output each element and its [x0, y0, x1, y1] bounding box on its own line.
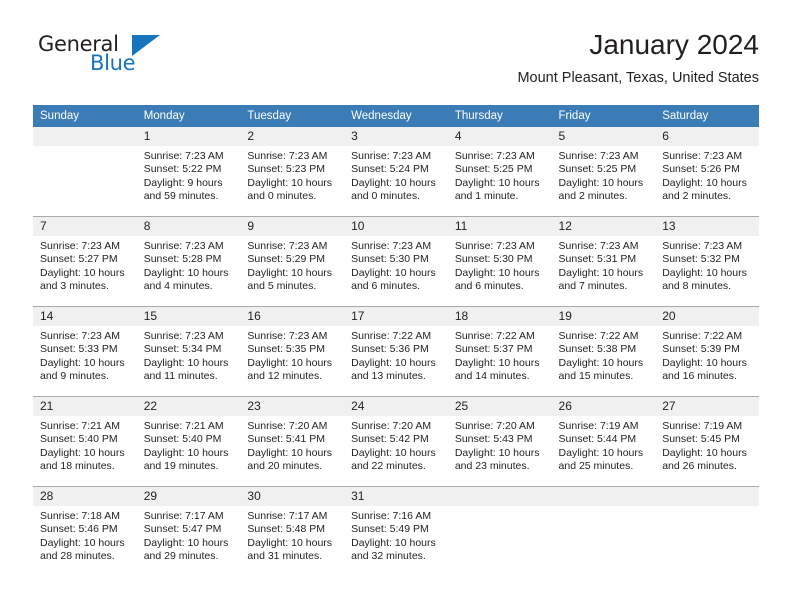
sunset-text: Sunset: 5:32 PM [662, 253, 753, 266]
sunrise-text: Sunrise: 7:23 AM [559, 240, 650, 253]
day-number: 5 [552, 127, 656, 146]
weekday-header-friday: Friday [552, 105, 656, 127]
daylight-text: and 8 minutes. [662, 280, 753, 293]
day-details: Sunrise: 7:23 AMSunset: 5:33 PMDaylight:… [33, 326, 137, 384]
sunrise-text: Sunrise: 7:22 AM [455, 330, 546, 343]
day-details: Sunrise: 7:23 AMSunset: 5:30 PMDaylight:… [344, 236, 448, 294]
calendar-day-cell[interactable]: 30Sunrise: 7:17 AMSunset: 5:48 PMDayligh… [240, 487, 344, 577]
day-details: Sunrise: 7:23 AMSunset: 5:26 PMDaylight:… [655, 146, 759, 204]
day-number: 1 [137, 127, 241, 146]
calendar-day-cell[interactable]: 1Sunrise: 7:23 AMSunset: 5:22 PMDaylight… [137, 127, 241, 217]
day-details: Sunrise: 7:22 AMSunset: 5:37 PMDaylight:… [448, 326, 552, 384]
calendar-week-row: 14Sunrise: 7:23 AMSunset: 5:33 PMDayligh… [33, 307, 759, 397]
daylight-text: and 20 minutes. [247, 460, 338, 473]
day-details: Sunrise: 7:19 AMSunset: 5:44 PMDaylight:… [552, 416, 656, 474]
daylight-text: Daylight: 10 hours [247, 447, 338, 460]
daylight-text: and 0 minutes. [247, 190, 338, 203]
sunrise-text: Sunrise: 7:23 AM [40, 330, 131, 343]
daylight-text: and 29 minutes. [144, 550, 235, 563]
daylight-text: Daylight: 10 hours [559, 267, 650, 280]
day-cell-inner: 30Sunrise: 7:17 AMSunset: 5:48 PMDayligh… [240, 487, 344, 576]
day-number: 17 [344, 307, 448, 326]
day-cell-inner: 2Sunrise: 7:23 AMSunset: 5:23 PMDaylight… [240, 127, 344, 216]
day-cell-inner: 17Sunrise: 7:22 AMSunset: 5:36 PMDayligh… [344, 307, 448, 396]
sunset-text: Sunset: 5:38 PM [559, 343, 650, 356]
daylight-text: Daylight: 10 hours [455, 447, 546, 460]
sunrise-text: Sunrise: 7:19 AM [662, 420, 753, 433]
daylight-text: Daylight: 10 hours [351, 447, 442, 460]
daylight-text: Daylight: 10 hours [144, 537, 235, 550]
sunrise-text: Sunrise: 7:22 AM [662, 330, 753, 343]
daylight-text: and 5 minutes. [247, 280, 338, 293]
calendar-header-row: Sunday Monday Tuesday Wednesday Thursday… [33, 105, 759, 127]
daylight-text: Daylight: 10 hours [40, 267, 131, 280]
daylight-text: Daylight: 10 hours [40, 447, 131, 460]
daylight-text: Daylight: 10 hours [662, 447, 753, 460]
day-cell-inner: 29Sunrise: 7:17 AMSunset: 5:47 PMDayligh… [137, 487, 241, 576]
daylight-text: and 25 minutes. [559, 460, 650, 473]
day-cell-inner: 26Sunrise: 7:19 AMSunset: 5:44 PMDayligh… [552, 397, 656, 486]
general-blue-logo: General Blue [33, 32, 233, 84]
sunset-text: Sunset: 5:30 PM [351, 253, 442, 266]
calendar-day-cell[interactable]: 14Sunrise: 7:23 AMSunset: 5:33 PMDayligh… [33, 307, 137, 397]
sunrise-text: Sunrise: 7:23 AM [144, 330, 235, 343]
sunrise-text: Sunrise: 7:23 AM [351, 240, 442, 253]
day-number: 15 [137, 307, 241, 326]
sunrise-text: Sunrise: 7:23 AM [351, 150, 442, 163]
daylight-text: Daylight: 10 hours [351, 177, 442, 190]
daylight-text: and 2 minutes. [662, 190, 753, 203]
day-number: 2 [240, 127, 344, 146]
calendar-day-cell[interactable]: 17Sunrise: 7:22 AMSunset: 5:36 PMDayligh… [344, 307, 448, 397]
sunrise-text: Sunrise: 7:23 AM [662, 240, 753, 253]
calendar-day-cell[interactable]: 20Sunrise: 7:22 AMSunset: 5:39 PMDayligh… [655, 307, 759, 397]
title-block: January 2024 Mount Pleasant, Texas, Unit… [517, 28, 759, 88]
day-cell-inner: 7Sunrise: 7:23 AMSunset: 5:27 PMDaylight… [33, 217, 137, 306]
calendar-day-cell[interactable]: 19Sunrise: 7:22 AMSunset: 5:38 PMDayligh… [552, 307, 656, 397]
calendar-day-cell[interactable]: 13Sunrise: 7:23 AMSunset: 5:32 PMDayligh… [655, 217, 759, 307]
day-cell-inner [448, 487, 552, 576]
sunset-text: Sunset: 5:42 PM [351, 433, 442, 446]
calendar-empty-cell [33, 127, 137, 217]
calendar-week-row: 28Sunrise: 7:18 AMSunset: 5:46 PMDayligh… [33, 487, 759, 577]
sunset-text: Sunset: 5:33 PM [40, 343, 131, 356]
daylight-text: Daylight: 10 hours [455, 177, 546, 190]
daylight-text: and 4 minutes. [144, 280, 235, 293]
daylight-text: Daylight: 10 hours [662, 357, 753, 370]
day-number: 20 [655, 307, 759, 326]
daylight-text: and 16 minutes. [662, 370, 753, 383]
calendar-day-cell[interactable]: 16Sunrise: 7:23 AMSunset: 5:35 PMDayligh… [240, 307, 344, 397]
sunrise-text: Sunrise: 7:17 AM [247, 510, 338, 523]
day-number: 12 [552, 217, 656, 236]
daylight-text: and 18 minutes. [40, 460, 131, 473]
calendar-day-cell[interactable]: 8Sunrise: 7:23 AMSunset: 5:28 PMDaylight… [137, 217, 241, 307]
day-number: 29 [137, 487, 241, 506]
logo-word-blue: Blue [90, 51, 135, 75]
day-cell-inner: 18Sunrise: 7:22 AMSunset: 5:37 PMDayligh… [448, 307, 552, 396]
day-cell-inner: 31Sunrise: 7:16 AMSunset: 5:49 PMDayligh… [344, 487, 448, 576]
day-details: Sunrise: 7:21 AMSunset: 5:40 PMDaylight:… [33, 416, 137, 474]
day-number: 31 [344, 487, 448, 506]
daylight-text: Daylight: 10 hours [247, 267, 338, 280]
day-number: 11 [448, 217, 552, 236]
daylight-text: Daylight: 10 hours [351, 537, 442, 550]
sunrise-text: Sunrise: 7:23 AM [247, 240, 338, 253]
day-number: 6 [655, 127, 759, 146]
day-cell-inner: 20Sunrise: 7:22 AMSunset: 5:39 PMDayligh… [655, 307, 759, 396]
day-number: 13 [655, 217, 759, 236]
sunset-text: Sunset: 5:45 PM [662, 433, 753, 446]
day-details: Sunrise: 7:21 AMSunset: 5:40 PMDaylight:… [137, 416, 241, 474]
sunset-text: Sunset: 5:37 PM [455, 343, 546, 356]
day-cell-inner [552, 487, 656, 576]
daylight-text: and 19 minutes. [144, 460, 235, 473]
sunset-text: Sunset: 5:35 PM [247, 343, 338, 356]
calendar-empty-cell [448, 487, 552, 577]
daylight-text: and 2 minutes. [559, 190, 650, 203]
sunrise-text: Sunrise: 7:22 AM [351, 330, 442, 343]
day-cell-inner: 23Sunrise: 7:20 AMSunset: 5:41 PMDayligh… [240, 397, 344, 486]
day-details: Sunrise: 7:22 AMSunset: 5:38 PMDaylight:… [552, 326, 656, 384]
daylight-text: and 13 minutes. [351, 370, 442, 383]
day-details: Sunrise: 7:23 AMSunset: 5:25 PMDaylight:… [552, 146, 656, 204]
day-number: 16 [240, 307, 344, 326]
daylight-text: and 6 minutes. [351, 280, 442, 293]
day-details: Sunrise: 7:23 AMSunset: 5:29 PMDaylight:… [240, 236, 344, 294]
day-cell-inner: 6Sunrise: 7:23 AMSunset: 5:26 PMDaylight… [655, 127, 759, 216]
daylight-text: Daylight: 9 hours [144, 177, 235, 190]
daylight-text: and 6 minutes. [455, 280, 546, 293]
daylight-text: Daylight: 10 hours [144, 447, 235, 460]
sunset-text: Sunset: 5:34 PM [144, 343, 235, 356]
daylight-text: Daylight: 10 hours [144, 357, 235, 370]
weekday-header-thursday: Thursday [448, 105, 552, 127]
logo-triangle-icon [132, 35, 160, 56]
day-details: Sunrise: 7:17 AMSunset: 5:48 PMDaylight:… [240, 506, 344, 564]
calendar-table: Sunday Monday Tuesday Wednesday Thursday… [33, 105, 759, 576]
day-details: Sunrise: 7:23 AMSunset: 5:25 PMDaylight:… [448, 146, 552, 204]
calendar-day-cell[interactable]: 21Sunrise: 7:21 AMSunset: 5:40 PMDayligh… [33, 397, 137, 487]
calendar-day-cell[interactable]: 27Sunrise: 7:19 AMSunset: 5:45 PMDayligh… [655, 397, 759, 487]
day-cell-inner: 8Sunrise: 7:23 AMSunset: 5:28 PMDaylight… [137, 217, 241, 306]
calendar-day-cell[interactable]: 25Sunrise: 7:20 AMSunset: 5:43 PMDayligh… [448, 397, 552, 487]
sunset-text: Sunset: 5:23 PM [247, 163, 338, 176]
day-cell-inner: 9Sunrise: 7:23 AMSunset: 5:29 PMDaylight… [240, 217, 344, 306]
day-details: Sunrise: 7:23 AMSunset: 5:24 PMDaylight:… [344, 146, 448, 204]
daylight-text: Daylight: 10 hours [455, 357, 546, 370]
daylight-text: and 31 minutes. [247, 550, 338, 563]
day-cell-inner: 5Sunrise: 7:23 AMSunset: 5:25 PMDaylight… [552, 127, 656, 216]
day-details: Sunrise: 7:23 AMSunset: 5:31 PMDaylight:… [552, 236, 656, 294]
daylight-text: Daylight: 10 hours [559, 357, 650, 370]
weekday-header-monday: Monday [137, 105, 241, 127]
day-cell-inner: 15Sunrise: 7:23 AMSunset: 5:34 PMDayligh… [137, 307, 241, 396]
sunset-text: Sunset: 5:29 PM [247, 253, 338, 266]
day-number [448, 487, 552, 506]
day-details: Sunrise: 7:23 AMSunset: 5:23 PMDaylight:… [240, 146, 344, 204]
daylight-text: Daylight: 10 hours [455, 267, 546, 280]
sunset-text: Sunset: 5:40 PM [40, 433, 131, 446]
page-subtitle: Mount Pleasant, Texas, United States [517, 68, 759, 88]
calendar-page: General Blue January 2024 Mount Pleasant… [0, 0, 792, 612]
calendar-day-cell[interactable]: 26Sunrise: 7:19 AMSunset: 5:44 PMDayligh… [552, 397, 656, 487]
sunrise-text: Sunrise: 7:18 AM [40, 510, 131, 523]
calendar-week-row: 21Sunrise: 7:21 AMSunset: 5:40 PMDayligh… [33, 397, 759, 487]
sunrise-text: Sunrise: 7:19 AM [559, 420, 650, 433]
sunset-text: Sunset: 5:40 PM [144, 433, 235, 446]
day-details: Sunrise: 7:20 AMSunset: 5:41 PMDaylight:… [240, 416, 344, 474]
daylight-text: and 59 minutes. [144, 190, 235, 203]
daylight-text: and 23 minutes. [455, 460, 546, 473]
day-cell-inner: 13Sunrise: 7:23 AMSunset: 5:32 PMDayligh… [655, 217, 759, 306]
day-number: 22 [137, 397, 241, 416]
day-number: 3 [344, 127, 448, 146]
day-number: 23 [240, 397, 344, 416]
day-cell-inner: 27Sunrise: 7:19 AMSunset: 5:45 PMDayligh… [655, 397, 759, 486]
sunrise-text: Sunrise: 7:23 AM [144, 240, 235, 253]
day-number: 8 [137, 217, 241, 236]
sunrise-text: Sunrise: 7:16 AM [351, 510, 442, 523]
weekday-header-saturday: Saturday [655, 105, 759, 127]
day-details: Sunrise: 7:22 AMSunset: 5:39 PMDaylight:… [655, 326, 759, 384]
day-details: Sunrise: 7:23 AMSunset: 5:28 PMDaylight:… [137, 236, 241, 294]
day-details: Sunrise: 7:17 AMSunset: 5:47 PMDaylight:… [137, 506, 241, 564]
sunset-text: Sunset: 5:43 PM [455, 433, 546, 446]
daylight-text: and 32 minutes. [351, 550, 442, 563]
calendar-empty-cell [552, 487, 656, 577]
calendar-day-cell[interactable]: 28Sunrise: 7:18 AMSunset: 5:46 PMDayligh… [33, 487, 137, 577]
daylight-text: Daylight: 10 hours [144, 267, 235, 280]
day-number: 24 [344, 397, 448, 416]
daylight-text: and 7 minutes. [559, 280, 650, 293]
daylight-text: Daylight: 10 hours [40, 537, 131, 550]
sunset-text: Sunset: 5:46 PM [40, 523, 131, 536]
daylight-text: and 3 minutes. [40, 280, 131, 293]
daylight-text: and 15 minutes. [559, 370, 650, 383]
day-details: Sunrise: 7:19 AMSunset: 5:45 PMDaylight:… [655, 416, 759, 474]
day-cell-inner: 19Sunrise: 7:22 AMSunset: 5:38 PMDayligh… [552, 307, 656, 396]
daylight-text: Daylight: 10 hours [247, 537, 338, 550]
day-details [552, 506, 656, 510]
day-cell-inner [33, 127, 137, 216]
day-cell-inner [655, 487, 759, 576]
calendar-empty-cell [655, 487, 759, 577]
sunrise-text: Sunrise: 7:21 AM [40, 420, 131, 433]
daylight-text: Daylight: 10 hours [662, 267, 753, 280]
sunset-text: Sunset: 5:49 PM [351, 523, 442, 536]
sunset-text: Sunset: 5:41 PM [247, 433, 338, 446]
day-details: Sunrise: 7:23 AMSunset: 5:35 PMDaylight:… [240, 326, 344, 384]
day-details [448, 506, 552, 510]
day-cell-inner: 25Sunrise: 7:20 AMSunset: 5:43 PMDayligh… [448, 397, 552, 486]
sunrise-text: Sunrise: 7:23 AM [559, 150, 650, 163]
weekday-header-wednesday: Wednesday [344, 105, 448, 127]
sunset-text: Sunset: 5:24 PM [351, 163, 442, 176]
day-cell-inner: 28Sunrise: 7:18 AMSunset: 5:46 PMDayligh… [33, 487, 137, 576]
day-number: 4 [448, 127, 552, 146]
sunrise-text: Sunrise: 7:20 AM [455, 420, 546, 433]
calendar-week-row: 7Sunrise: 7:23 AMSunset: 5:27 PMDaylight… [33, 217, 759, 307]
day-number: 7 [33, 217, 137, 236]
day-cell-inner: 3Sunrise: 7:23 AMSunset: 5:24 PMDaylight… [344, 127, 448, 216]
weekday-header-tuesday: Tuesday [240, 105, 344, 127]
day-number: 14 [33, 307, 137, 326]
day-number: 25 [448, 397, 552, 416]
calendar-day-cell[interactable]: 23Sunrise: 7:20 AMSunset: 5:41 PMDayligh… [240, 397, 344, 487]
day-details: Sunrise: 7:22 AMSunset: 5:36 PMDaylight:… [344, 326, 448, 384]
day-number: 30 [240, 487, 344, 506]
weekday-header-sunday: Sunday [33, 105, 137, 127]
calendar-day-cell[interactable]: 2Sunrise: 7:23 AMSunset: 5:23 PMDaylight… [240, 127, 344, 217]
daylight-text: and 14 minutes. [455, 370, 546, 383]
sunset-text: Sunset: 5:22 PM [144, 163, 235, 176]
day-number [552, 487, 656, 506]
calendar-day-cell[interactable]: 4Sunrise: 7:23 AMSunset: 5:25 PMDaylight… [448, 127, 552, 217]
sunrise-text: Sunrise: 7:20 AM [351, 420, 442, 433]
sunset-text: Sunset: 5:44 PM [559, 433, 650, 446]
day-number [655, 487, 759, 506]
calendar-week-row: 1Sunrise: 7:23 AMSunset: 5:22 PMDaylight… [33, 127, 759, 217]
day-number: 26 [552, 397, 656, 416]
day-cell-inner: 1Sunrise: 7:23 AMSunset: 5:22 PMDaylight… [137, 127, 241, 216]
sunrise-text: Sunrise: 7:23 AM [144, 150, 235, 163]
day-cell-inner: 10Sunrise: 7:23 AMSunset: 5:30 PMDayligh… [344, 217, 448, 306]
sunrise-text: Sunrise: 7:23 AM [40, 240, 131, 253]
sunrise-text: Sunrise: 7:20 AM [247, 420, 338, 433]
calendar-day-cell[interactable]: 5Sunrise: 7:23 AMSunset: 5:25 PMDaylight… [552, 127, 656, 217]
day-details: Sunrise: 7:23 AMSunset: 5:27 PMDaylight:… [33, 236, 137, 294]
daylight-text: Daylight: 10 hours [40, 357, 131, 370]
day-details: Sunrise: 7:23 AMSunset: 5:34 PMDaylight:… [137, 326, 241, 384]
day-cell-inner: 24Sunrise: 7:20 AMSunset: 5:42 PMDayligh… [344, 397, 448, 486]
daylight-text: Daylight: 10 hours [351, 357, 442, 370]
sunset-text: Sunset: 5:31 PM [559, 253, 650, 266]
calendar-day-cell[interactable]: 7Sunrise: 7:23 AMSunset: 5:27 PMDaylight… [33, 217, 137, 307]
day-details: Sunrise: 7:20 AMSunset: 5:42 PMDaylight:… [344, 416, 448, 474]
day-number: 19 [552, 307, 656, 326]
day-number [33, 127, 137, 146]
day-details: Sunrise: 7:16 AMSunset: 5:49 PMDaylight:… [344, 506, 448, 564]
day-number: 10 [344, 217, 448, 236]
daylight-text: Daylight: 10 hours [662, 177, 753, 190]
daylight-text: and 0 minutes. [351, 190, 442, 203]
sunset-text: Sunset: 5:39 PM [662, 343, 753, 356]
day-details [33, 146, 137, 150]
day-cell-inner: 4Sunrise: 7:23 AMSunset: 5:25 PMDaylight… [448, 127, 552, 216]
day-details: Sunrise: 7:20 AMSunset: 5:43 PMDaylight:… [448, 416, 552, 474]
day-details: Sunrise: 7:23 AMSunset: 5:22 PMDaylight:… [137, 146, 241, 204]
daylight-text: and 9 minutes. [40, 370, 131, 383]
sunset-text: Sunset: 5:36 PM [351, 343, 442, 356]
sunrise-text: Sunrise: 7:21 AM [144, 420, 235, 433]
sunrise-text: Sunrise: 7:23 AM [662, 150, 753, 163]
day-number: 27 [655, 397, 759, 416]
sunset-text: Sunset: 5:25 PM [559, 163, 650, 176]
calendar-day-cell[interactable]: 15Sunrise: 7:23 AMSunset: 5:34 PMDayligh… [137, 307, 241, 397]
day-number: 28 [33, 487, 137, 506]
day-cell-inner: 14Sunrise: 7:23 AMSunset: 5:33 PMDayligh… [33, 307, 137, 396]
calendar-day-cell[interactable]: 24Sunrise: 7:20 AMSunset: 5:42 PMDayligh… [344, 397, 448, 487]
daylight-text: Daylight: 10 hours [247, 357, 338, 370]
day-cell-inner: 11Sunrise: 7:23 AMSunset: 5:30 PMDayligh… [448, 217, 552, 306]
day-number: 18 [448, 307, 552, 326]
sunset-text: Sunset: 5:28 PM [144, 253, 235, 266]
calendar-day-cell[interactable]: 31Sunrise: 7:16 AMSunset: 5:49 PMDayligh… [344, 487, 448, 577]
calendar-day-cell[interactable]: 22Sunrise: 7:21 AMSunset: 5:40 PMDayligh… [137, 397, 241, 487]
day-number: 9 [240, 217, 344, 236]
daylight-text: Daylight: 10 hours [559, 447, 650, 460]
calendar-day-cell[interactable]: 11Sunrise: 7:23 AMSunset: 5:30 PMDayligh… [448, 217, 552, 307]
sunrise-text: Sunrise: 7:23 AM [247, 330, 338, 343]
daylight-text: and 11 minutes. [144, 370, 235, 383]
calendar-day-cell[interactable]: 6Sunrise: 7:23 AMSunset: 5:26 PMDaylight… [655, 127, 759, 217]
sunset-text: Sunset: 5:27 PM [40, 253, 131, 266]
daylight-text: and 12 minutes. [247, 370, 338, 383]
page-title: January 2024 [517, 28, 759, 62]
daylight-text: and 26 minutes. [662, 460, 753, 473]
sunset-text: Sunset: 5:48 PM [247, 523, 338, 536]
calendar-day-cell[interactable]: 18Sunrise: 7:22 AMSunset: 5:37 PMDayligh… [448, 307, 552, 397]
sunrise-text: Sunrise: 7:23 AM [247, 150, 338, 163]
calendar-day-cell[interactable]: 29Sunrise: 7:17 AMSunset: 5:47 PMDayligh… [137, 487, 241, 577]
day-number: 21 [33, 397, 137, 416]
calendar-body: 1Sunrise: 7:23 AMSunset: 5:22 PMDaylight… [33, 127, 759, 576]
daylight-text: and 1 minute. [455, 190, 546, 203]
day-cell-inner: 22Sunrise: 7:21 AMSunset: 5:40 PMDayligh… [137, 397, 241, 486]
sunset-text: Sunset: 5:26 PM [662, 163, 753, 176]
sunrise-text: Sunrise: 7:22 AM [559, 330, 650, 343]
day-details [655, 506, 759, 510]
sunrise-text: Sunrise: 7:17 AM [144, 510, 235, 523]
daylight-text: and 28 minutes. [40, 550, 131, 563]
sunrise-text: Sunrise: 7:23 AM [455, 240, 546, 253]
sunset-text: Sunset: 5:25 PM [455, 163, 546, 176]
page-header: General Blue January 2024 Mount Pleasant… [33, 28, 759, 96]
sunset-text: Sunset: 5:30 PM [455, 253, 546, 266]
calendar-day-cell[interactable]: 3Sunrise: 7:23 AMSunset: 5:24 PMDaylight… [344, 127, 448, 217]
day-details: Sunrise: 7:23 AMSunset: 5:32 PMDaylight:… [655, 236, 759, 294]
calendar-day-cell[interactable]: 10Sunrise: 7:23 AMSunset: 5:30 PMDayligh… [344, 217, 448, 307]
daylight-text: Daylight: 10 hours [247, 177, 338, 190]
day-details: Sunrise: 7:18 AMSunset: 5:46 PMDaylight:… [33, 506, 137, 564]
sunset-text: Sunset: 5:47 PM [144, 523, 235, 536]
calendar-day-cell[interactable]: 12Sunrise: 7:23 AMSunset: 5:31 PMDayligh… [552, 217, 656, 307]
daylight-text: Daylight: 10 hours [351, 267, 442, 280]
day-cell-inner: 12Sunrise: 7:23 AMSunset: 5:31 PMDayligh… [552, 217, 656, 306]
calendar-day-cell[interactable]: 9Sunrise: 7:23 AMSunset: 5:29 PMDaylight… [240, 217, 344, 307]
sunrise-text: Sunrise: 7:23 AM [455, 150, 546, 163]
day-cell-inner: 16Sunrise: 7:23 AMSunset: 5:35 PMDayligh… [240, 307, 344, 396]
daylight-text: and 22 minutes. [351, 460, 442, 473]
daylight-text: Daylight: 10 hours [559, 177, 650, 190]
day-details: Sunrise: 7:23 AMSunset: 5:30 PMDaylight:… [448, 236, 552, 294]
day-cell-inner: 21Sunrise: 7:21 AMSunset: 5:40 PMDayligh… [33, 397, 137, 486]
